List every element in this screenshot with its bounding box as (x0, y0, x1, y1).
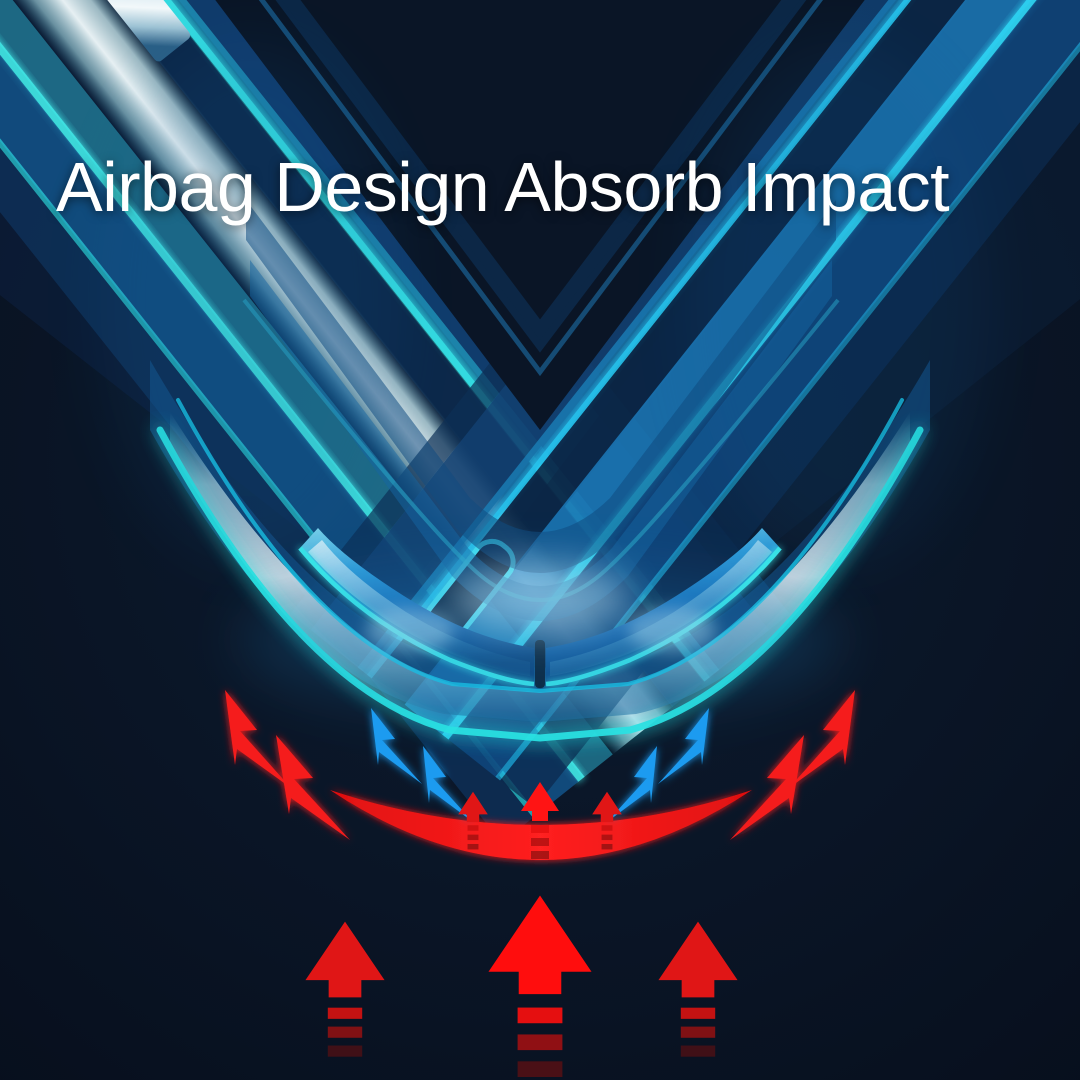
product-feature-banner: Airbag Design Absorb Impact (0, 0, 1080, 1080)
page-title: Airbag Design Absorb Impact (56, 152, 1036, 222)
